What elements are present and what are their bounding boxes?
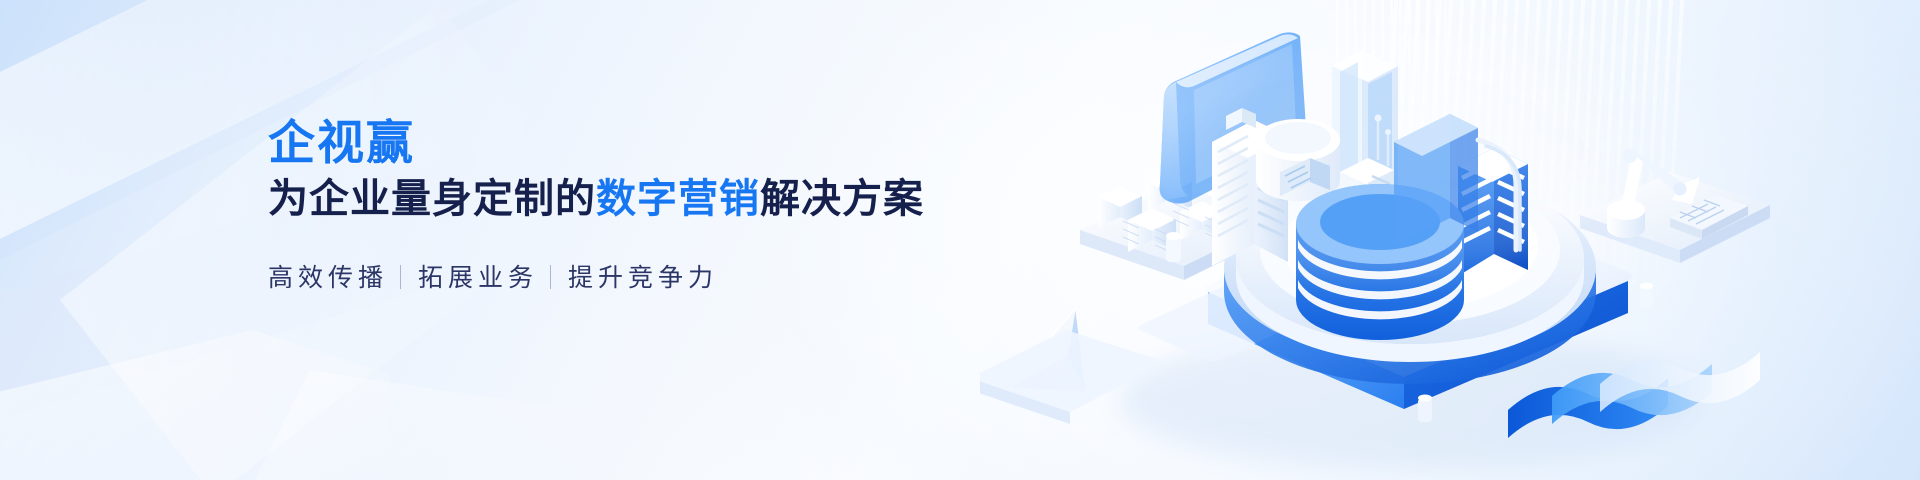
tagline: 高效传播 拓展业务 提升竞争力 — [268, 258, 908, 294]
headline-suffix: 解决方案 — [760, 177, 924, 221]
headline-prefix: 为企业量身定制的 — [268, 177, 596, 221]
tagline-separator-2 — [550, 265, 551, 289]
illustration-sheen — [1140, 40, 1620, 280]
hero-copy: 企视赢 为企业量身定制的数字营销解决方案 高效传播 拓展业务 提升竞争力 — [268, 118, 908, 294]
headline-highlight: 数字营销 — [596, 177, 760, 221]
bg-polygon-lower — [250, 370, 580, 480]
tagline-separator-1 — [400, 265, 401, 289]
tagline-item-3: 提升竞争力 — [568, 258, 718, 294]
bg-polygon-left — [0, 330, 390, 480]
headline: 为企业量身定制的数字营销解决方案 — [268, 177, 908, 223]
hero-illustration — [980, 0, 1920, 480]
hero-banner: 企视赢 为企业量身定制的数字营销解决方案 高效传播 拓展业务 提升竞争力 — [0, 0, 1920, 480]
brand-title: 企视赢 — [268, 118, 908, 168]
tagline-item-2: 拓展业务 — [418, 258, 538, 294]
tagline-item-1: 高效传播 — [268, 258, 388, 294]
